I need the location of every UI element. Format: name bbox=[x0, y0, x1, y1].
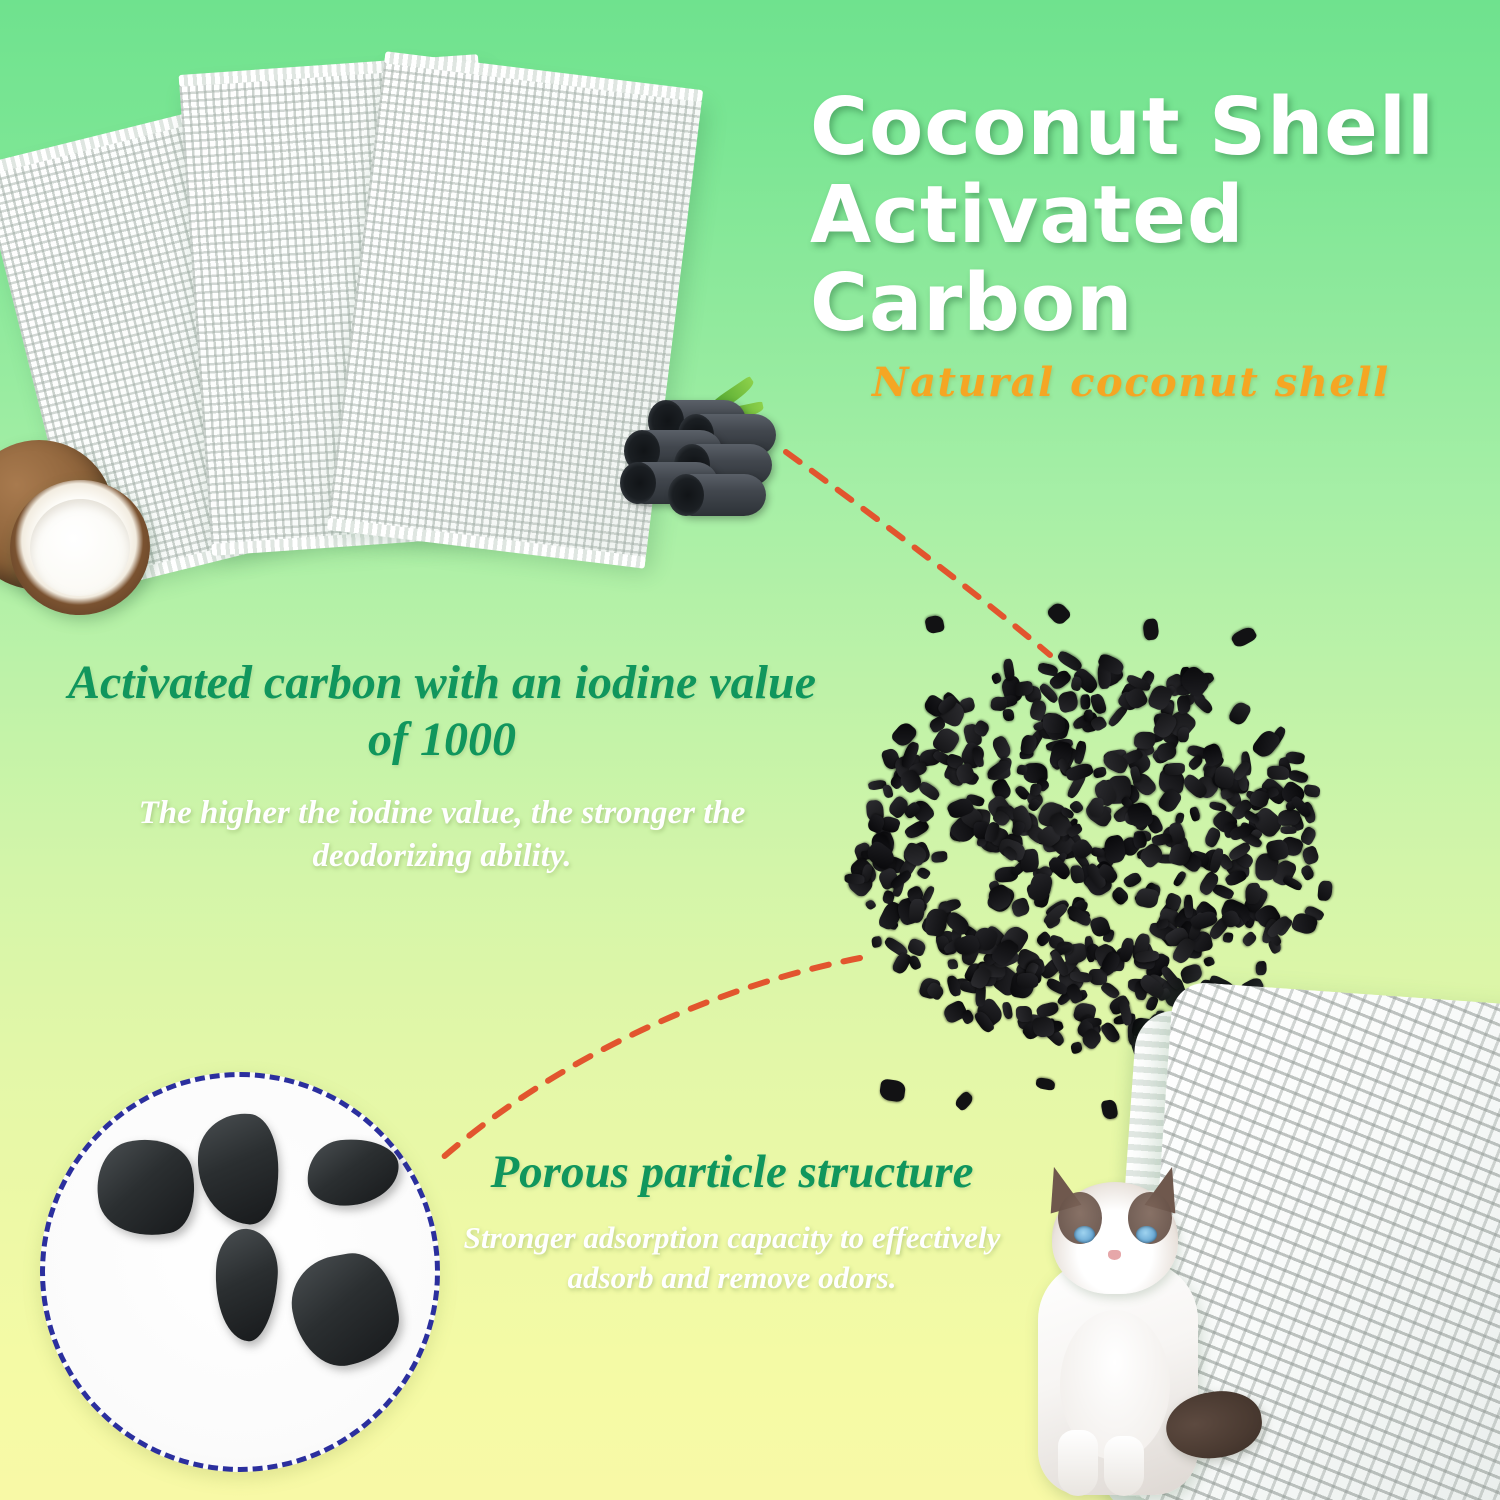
carbon-granule bbox=[1109, 885, 1130, 906]
carbon-granule bbox=[1089, 797, 1104, 816]
carbon-granule bbox=[1230, 625, 1258, 649]
carbon-granule bbox=[1165, 763, 1185, 775]
carbon-granule bbox=[1281, 875, 1303, 892]
carbon-granule bbox=[1299, 864, 1316, 882]
carbon-granule bbox=[1043, 713, 1065, 732]
carbon-granule bbox=[1304, 784, 1321, 798]
feature-heading: Activated carbon with an iodine value of… bbox=[62, 655, 822, 768]
carbon-granule bbox=[931, 851, 948, 863]
carbon-granule bbox=[1028, 872, 1053, 902]
carbon-granule bbox=[906, 937, 927, 957]
bamboo-charcoal-tubes-image bbox=[622, 400, 822, 520]
feature-iodine-value: Activated carbon with an iodine value of… bbox=[62, 655, 822, 878]
carbon-granule bbox=[908, 955, 922, 971]
carbon-granule bbox=[1184, 895, 1194, 919]
feature-heading: Porous particle structure bbox=[452, 1145, 1012, 1200]
carbon-granule bbox=[1255, 961, 1267, 976]
carbon-granule bbox=[1080, 694, 1091, 710]
carbon-granule bbox=[1100, 1099, 1118, 1120]
carbon-granule bbox=[1278, 810, 1300, 826]
connector-tubes-to-granules bbox=[786, 452, 1050, 655]
feature-body: Stronger adsorption capacity to effectiv… bbox=[452, 1218, 1012, 1297]
carbon-granule bbox=[1202, 955, 1215, 967]
carbon-granule bbox=[1142, 618, 1160, 641]
carbon-granule bbox=[890, 951, 912, 976]
carbon-granule bbox=[1155, 741, 1177, 762]
carbon-granule bbox=[1020, 734, 1038, 756]
cat-eye bbox=[1136, 1226, 1157, 1243]
carbon-granule bbox=[1280, 826, 1297, 835]
carbon-granule bbox=[1267, 766, 1289, 780]
carbon-granule bbox=[947, 958, 958, 970]
connector-granules-to-inset bbox=[440, 958, 860, 1160]
carbon-granule bbox=[879, 1078, 907, 1102]
carbon-granule bbox=[1223, 932, 1234, 944]
cat-eye bbox=[1074, 1226, 1095, 1243]
carbon-granule bbox=[1119, 937, 1135, 963]
carbon-granule bbox=[1070, 676, 1083, 692]
carbon-granule bbox=[1177, 727, 1189, 742]
product-infographic-poster: {} Coconut Shell Act bbox=[0, 0, 1500, 1500]
carbon-granule bbox=[1002, 1001, 1014, 1019]
poster-title-block: Coconut Shell Activated Carbon Natural c… bbox=[810, 88, 1480, 406]
carbon-granule bbox=[1188, 806, 1201, 822]
carbon-granule bbox=[1241, 930, 1258, 947]
carbon-granule bbox=[1135, 887, 1160, 910]
carbon-granule bbox=[990, 672, 1002, 685]
carbon-granule bbox=[1301, 845, 1321, 866]
carbon-granule bbox=[1122, 870, 1143, 889]
carbon-granule bbox=[1174, 812, 1185, 825]
carbon-granule bbox=[1035, 1077, 1056, 1091]
carbon-granule bbox=[1176, 695, 1192, 714]
cat-image bbox=[1000, 1140, 1265, 1500]
title-line-1: Coconut Shell bbox=[810, 88, 1480, 166]
carbon-granule bbox=[845, 874, 865, 884]
title-line-2: Activated bbox=[810, 176, 1480, 254]
carbon-granule bbox=[1046, 600, 1073, 627]
carbon-granule bbox=[1208, 801, 1227, 813]
carbon-granule bbox=[1228, 700, 1253, 727]
carbon-granule bbox=[1093, 766, 1107, 778]
carbon-granule bbox=[953, 1090, 975, 1112]
carbon-granule bbox=[1070, 1041, 1084, 1055]
carbon-granule bbox=[917, 865, 932, 880]
carbon-granule bbox=[1056, 689, 1079, 713]
feature-porous-structure: Porous particle structure Stronger adsor… bbox=[452, 1145, 1012, 1298]
carbon-granule bbox=[864, 898, 877, 911]
carbon-granule bbox=[1010, 896, 1031, 917]
title-line-3: Carbon bbox=[810, 264, 1480, 342]
carbon-granule bbox=[925, 614, 946, 634]
carbon-granule bbox=[871, 936, 882, 949]
porous-structure-inset bbox=[40, 1072, 440, 1472]
carbon-granule bbox=[1317, 881, 1332, 902]
carbon-granule bbox=[1016, 1006, 1032, 1022]
poster-subtitle: Natural coconut shell bbox=[872, 359, 1480, 406]
feature-body: The higher the iodine value, the stronge… bbox=[62, 792, 822, 878]
carbon-granule bbox=[1017, 973, 1038, 988]
carbon-granule bbox=[1172, 870, 1187, 888]
